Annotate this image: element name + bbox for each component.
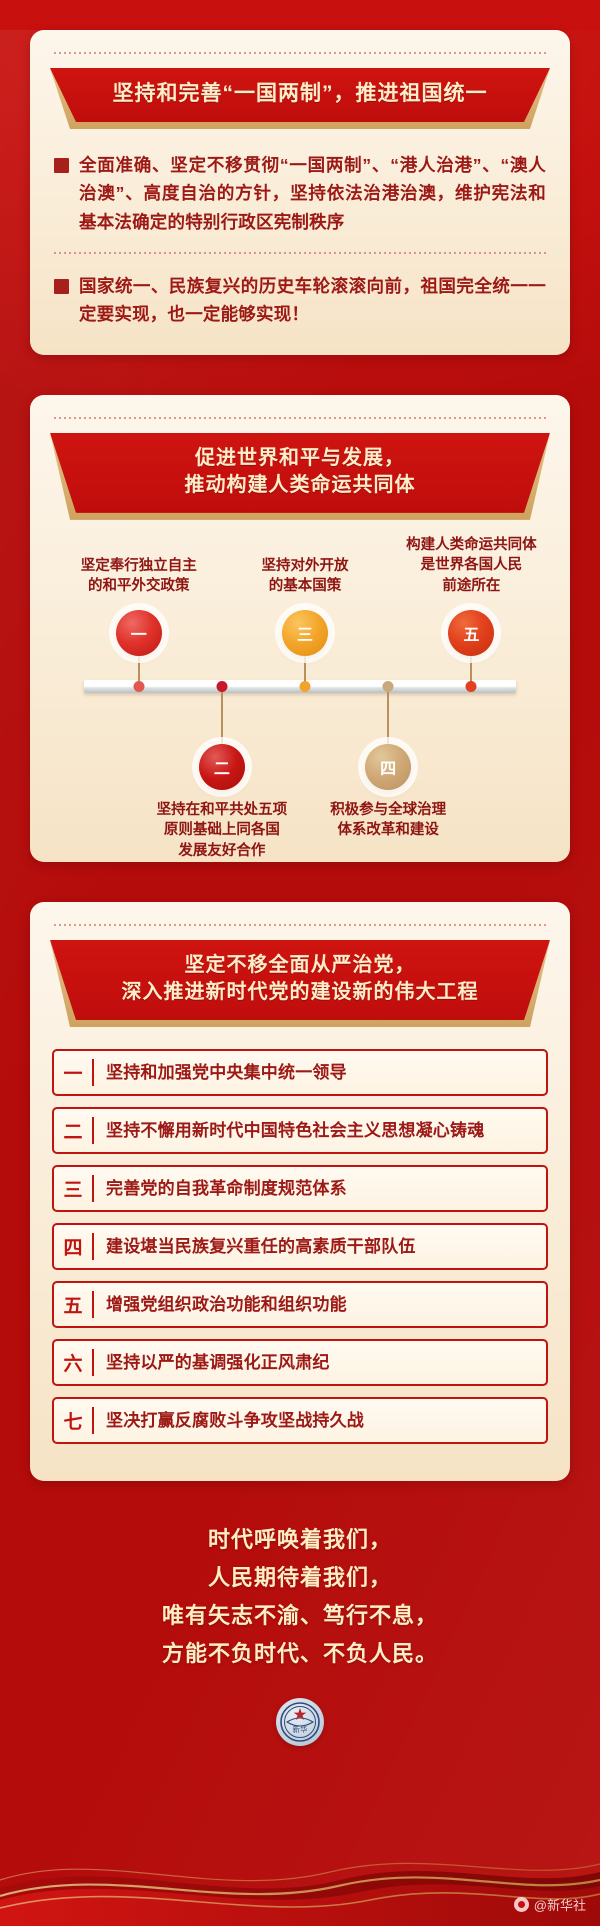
- bullet-text: 国家统一、民族复兴的历史车轮滚滚向前，祖国完全统一一定要实现，也一定能够实现！: [79, 272, 546, 329]
- banner-one-country-two-systems: 坚持和完善“一国两制”，推进祖国统一: [48, 68, 552, 129]
- xinhua-emblem-icon: 新华: [276, 1698, 324, 1746]
- timeline-label: 坚持对外开放 的基本国策: [210, 556, 400, 597]
- list-item-number: 四: [54, 1233, 94, 1260]
- list-item-text: 坚决打赢反腐败斗争攻坚战持久战: [106, 1410, 364, 1432]
- divider-dotted-top: [52, 52, 548, 54]
- divider-dotted-top: [52, 924, 548, 926]
- list-item[interactable]: 六坚持以严的基调强化正风肃纪: [52, 1339, 548, 1386]
- timeline-badge-五[interactable]: 五: [448, 610, 494, 656]
- banner-title: 坚持和完善“一国两制”，推进祖国统一: [90, 80, 510, 109]
- banner-world-peace-development: 促进世界和平与发展， 推动构建人类命运共同体: [48, 433, 552, 520]
- timeline-stem: [387, 686, 389, 744]
- divider-dotted-top: [52, 417, 548, 419]
- banner-red-face: 坚持和完善“一国两制”，推进祖国统一: [50, 68, 550, 122]
- card-one-country-two-systems: 坚持和完善“一国两制”，推进祖国统一 全面准确、坚定不移贯彻“一国两制”、“港人…: [30, 30, 570, 355]
- divider-dotted-between-bullets: [52, 252, 548, 254]
- list-item[interactable]: 一坚持和加强党中央集中统一领导: [52, 1049, 548, 1096]
- weibo-icon: [514, 1897, 529, 1912]
- card-strict-party-governance: 坚定不移全面从严治党， 深入推进新时代党的建设新的伟大工程 一坚持和加强党中央集…: [30, 902, 570, 1481]
- list-item-number: 七: [54, 1407, 94, 1434]
- list-item-text: 增强党组织政治功能和组织功能: [106, 1294, 347, 1316]
- emblem-container: 新华: [0, 1698, 600, 1746]
- card-world-peace-development: 促进世界和平与发展， 推动构建人类命运共同体 一坚定奉行独立自主 的和平外交政策…: [30, 395, 570, 862]
- list-item-text: 完善党的自我革命制度规范体系: [106, 1178, 347, 1200]
- list-item[interactable]: 二坚持不懈用新时代中国特色社会主义思想凝心铸魂: [52, 1107, 548, 1154]
- timeline-badge-四[interactable]: 四: [365, 744, 411, 790]
- list-item[interactable]: 三完善党的自我革命制度规范体系: [52, 1165, 548, 1212]
- timeline-badge-二[interactable]: 二: [199, 744, 245, 790]
- timeline-badge-一[interactable]: 一: [116, 610, 162, 656]
- bullet-item: 全面准确、坚定不移贯彻“一国两制”、“港人治港”、“澳人治澳”、高度自治的方针，…: [48, 149, 552, 236]
- timeline-label: 坚持在和平共处五项 原则基础上同各国 发展友好合作: [127, 800, 317, 862]
- timeline-dot: [133, 681, 144, 692]
- timeline-label: 积极参与全球治理 体系改革和建设: [293, 800, 483, 841]
- banner-title: 促进世界和平与发展， 推动构建人类命运共同体: [90, 445, 510, 500]
- banner-gold-backing: 坚持和完善“一国两制”，推进祖国统一: [50, 68, 550, 129]
- square-bullet-icon: [54, 279, 69, 294]
- banner-gold-backing: 坚定不移全面从严治党， 深入推进新时代党的建设新的伟大工程: [50, 940, 550, 1027]
- closing-verse: 时代呼唤着我们， 人民期待着我们， 唯有矢志不渝、笃行不息， 方能不负时代、不负…: [30, 1521, 570, 1672]
- timeline-label: 构建人类命运共同体 是世界各国人民 前途所在: [376, 535, 566, 597]
- list-item-number: 三: [54, 1175, 94, 1202]
- list-item-text: 坚持以严的基调强化正风肃纪: [106, 1352, 330, 1374]
- bullet-text: 全面准确、坚定不移贯彻“一国两制”、“港人治港”、“澳人治澳”、高度自治的方针，…: [79, 151, 546, 236]
- timeline-dot: [216, 681, 227, 692]
- list-item[interactable]: 五增强党组织政治功能和组织功能: [52, 1281, 548, 1328]
- square-bullet-icon: [54, 158, 69, 173]
- credit-weibo[interactable]: @新华社: [514, 1895, 586, 1914]
- svg-text:新华: 新华: [293, 1724, 308, 1734]
- banner-title: 坚定不移全面从严治党， 深入推进新时代党的建设新的伟大工程: [90, 952, 510, 1007]
- timeline-stem: [221, 686, 223, 744]
- list-item[interactable]: 四建设堪当民族复兴重任的高素质干部队伍: [52, 1223, 548, 1270]
- list-item-number: 二: [54, 1117, 94, 1144]
- timeline-diagram: 一坚定奉行独立自主 的和平外交政策二坚持在和平共处五项 原则基础上同各国 发展友…: [48, 536, 552, 836]
- list-item-text: 建设堪当民族复兴重任的高素质干部队伍: [106, 1236, 416, 1258]
- credit-label: @新华社: [534, 1895, 586, 1914]
- bullet-item: 国家统一、民族复兴的历史车轮滚滚向前，祖国完全统一一定要实现，也一定能够实现！: [48, 270, 552, 329]
- list-item-number: 六: [54, 1349, 94, 1376]
- timeline-dot: [466, 681, 477, 692]
- banner-strict-party-governance: 坚定不移全面从严治党， 深入推进新时代党的建设新的伟大工程: [48, 940, 552, 1027]
- list-item-number: 一: [54, 1059, 94, 1086]
- list-item[interactable]: 七坚决打赢反腐败斗争攻坚战持久战: [52, 1397, 548, 1444]
- bottom-wave-decoration: [0, 1776, 600, 1926]
- banner-red-face: 坚定不移全面从严治党， 深入推进新时代党的建设新的伟大工程: [50, 940, 550, 1020]
- list-item-text: 坚持和加强党中央集中统一领导: [106, 1062, 347, 1084]
- list-item-text: 坚持不懈用新时代中国特色社会主义思想凝心铸魂: [106, 1120, 484, 1142]
- timeline-dot: [383, 681, 394, 692]
- list-item-number: 五: [54, 1291, 94, 1318]
- timeline-badge-三[interactable]: 三: [282, 610, 328, 656]
- timeline-dot: [300, 681, 311, 692]
- timeline-label: 坚定奉行独立自主 的和平外交政策: [44, 556, 234, 597]
- numbered-list-party-governance: 一坚持和加强党中央集中统一领导二坚持不懈用新时代中国特色社会主义思想凝心铸魂三完…: [48, 1043, 552, 1444]
- banner-red-face: 促进世界和平与发展， 推动构建人类命运共同体: [50, 433, 550, 513]
- banner-gold-backing: 促进世界和平与发展， 推动构建人类命运共同体: [50, 433, 550, 520]
